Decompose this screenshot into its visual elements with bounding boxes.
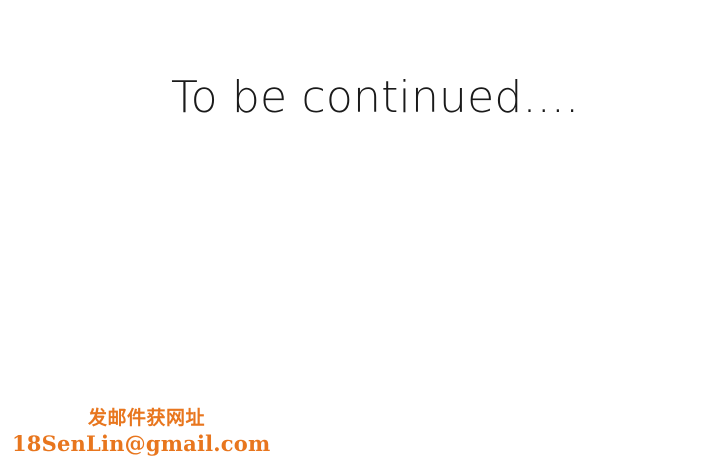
watermark-email-address: 18SenLin@gmail.com	[12, 432, 270, 456]
watermark: 发邮件获网址 18SenLin@gmail.com	[0, 402, 250, 464]
page-title: To be continued....	[171, 73, 579, 123]
slide-canvas: To be continued.... 发邮件获网址 18SenLin@gmai…	[0, 0, 720, 465]
watermark-chinese-note: 发邮件获网址	[88, 407, 205, 429]
